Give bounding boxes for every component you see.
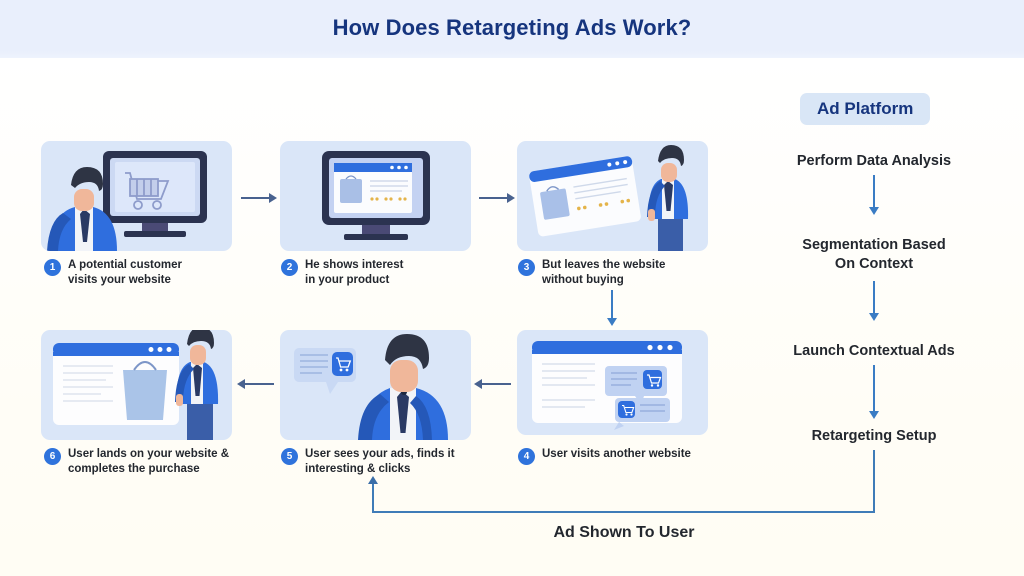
- ad-platform-arrow-3-head: [869, 411, 879, 419]
- browser-shopping-bag-person-illustration: [41, 330, 232, 440]
- person-with-monitor-cart-illustration: [41, 141, 232, 251]
- step-number-badge: 5: [281, 448, 298, 465]
- step-label: But leaves the website without buying: [542, 258, 665, 287]
- person-viewing-ad-illustration: [280, 330, 471, 440]
- monitor-product-page-illustration: [280, 141, 471, 251]
- loop-label: Ad Shown To User: [444, 524, 804, 542]
- browser-with-ad-popups-illustration: [517, 330, 708, 435]
- step-3-illustration-card: [517, 141, 708, 251]
- arrow-step5-to-step6: [244, 383, 274, 385]
- arrow-step4-to-step5: [481, 383, 511, 385]
- ad-platform-step-2: Segmentation Based On Context: [759, 236, 989, 274]
- step-label: A potential customer visits your website: [68, 258, 182, 287]
- step-caption-2: 2 He shows interest in your product: [281, 258, 471, 287]
- step-label: User sees your ads, finds it interesting…: [305, 447, 455, 476]
- arrow-step2-to-step3-head: [507, 193, 515, 203]
- loop-arrow-head: [368, 476, 378, 484]
- arrow-step1-to-step2: [241, 197, 271, 199]
- loop-line-horizontal: [372, 511, 875, 513]
- step-2-illustration-card: [280, 141, 471, 251]
- step-caption-6: 6 User lands on your website & completes…: [44, 447, 239, 476]
- arrow-step3-to-step4: [611, 290, 613, 320]
- ad-platform-step-3: Launch Contextual Ads: [759, 342, 989, 361]
- step-number-badge: 2: [281, 259, 298, 276]
- ad-platform-step-1: Perform Data Analysis: [759, 152, 989, 171]
- ad-platform-arrow-1: [873, 175, 875, 209]
- browser-window-person-leaving-illustration: [517, 141, 708, 251]
- arrow-step5-to-step6-head: [237, 379, 245, 389]
- ad-platform-arrow-3: [873, 365, 875, 413]
- step-1-illustration-card: [41, 141, 232, 251]
- step-label: He shows interest in your product: [305, 258, 403, 287]
- ad-platform-arrow-2-head: [869, 313, 879, 321]
- step-caption-1: 1 A potential customer visits your websi…: [44, 258, 234, 287]
- arrow-step4-to-step5-head: [474, 379, 482, 389]
- step-6-illustration-card: [41, 330, 232, 440]
- step-caption-4: 4 User visits another website: [518, 447, 713, 465]
- loop-line-vertical-right: [873, 450, 875, 513]
- step-number-badge: 6: [44, 448, 61, 465]
- step-label: User visits another website: [542, 447, 691, 462]
- step-number-badge: 3: [518, 259, 535, 276]
- header-band: How Does Retargeting Ads Work?: [0, 0, 1024, 58]
- ad-platform-arrow-2: [873, 281, 875, 315]
- arrow-step2-to-step3: [479, 197, 509, 199]
- ad-platform-step-4: Retargeting Setup: [759, 427, 989, 446]
- step-label: User lands on your website & completes t…: [68, 447, 229, 476]
- step-4-illustration-card: [517, 330, 708, 435]
- step-caption-3: 3 But leaves the website without buying: [518, 258, 708, 287]
- ad-platform-arrow-1-head: [869, 207, 879, 215]
- step-caption-5: 5 User sees your ads, finds it interesti…: [281, 447, 476, 476]
- page-title: How Does Retargeting Ads Work?: [0, 15, 1024, 41]
- loop-line-vertical-left: [372, 483, 374, 513]
- arrow-step3-to-step4-head: [607, 318, 617, 326]
- ad-platform-badge: Ad Platform: [800, 93, 930, 125]
- arrow-step1-to-step2-head: [269, 193, 277, 203]
- step-5-illustration-card: [280, 330, 471, 440]
- step-number-badge: 1: [44, 259, 61, 276]
- step-number-badge: 4: [518, 448, 535, 465]
